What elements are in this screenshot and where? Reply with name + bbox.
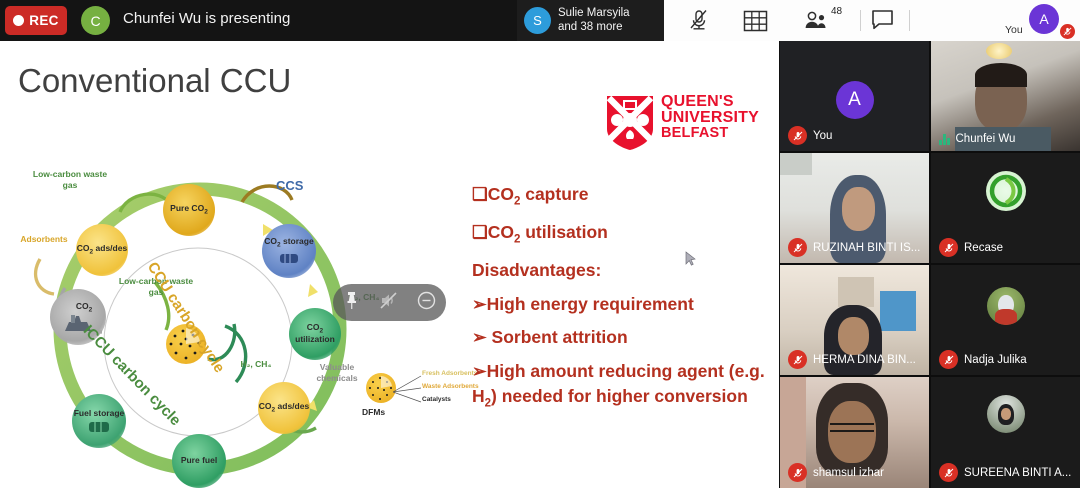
- dfm-item-waste-adsorbents: Waste Adsorbents: [422, 383, 479, 390]
- nametag: You: [788, 126, 832, 145]
- node-pure-co2: Pure CO2: [163, 184, 215, 236]
- dfm-legend-particle-icon: [366, 373, 396, 403]
- slide-canvas: Conventional CCU QUEEN'S UNIVERSITY BELF…: [4, 44, 775, 485]
- node-co2-storage: CO2 storage: [262, 224, 316, 278]
- nametag: Chunfei Wu: [939, 132, 1015, 145]
- mic-muted-icon: [788, 350, 807, 369]
- recase-logo-icon: [986, 171, 1026, 211]
- participant-tile-chunfei-wu[interactable]: Chunfei Wu: [931, 41, 1080, 151]
- label-ccs: CCS: [276, 178, 303, 193]
- speaker-more-count: and 38 more: [558, 21, 630, 35]
- mic-muted-icon: [939, 463, 958, 482]
- bullet-h2-conversion-continuation: H2) needed for higher conversion: [472, 386, 772, 411]
- avatar: [987, 287, 1025, 325]
- participants-count-badge: 48: [831, 6, 842, 17]
- participant-name: Chunfei Wu: [956, 133, 1016, 145]
- nametag: RUZINAH BINTI IS...: [788, 238, 920, 257]
- speaking-indicator-icon: [939, 132, 950, 145]
- chat-icon[interactable]: [871, 9, 894, 30]
- participant-tile-recase[interactable]: Recase: [931, 153, 1080, 263]
- participant-name: You: [813, 130, 832, 142]
- storage-tank-icon: [278, 251, 300, 265]
- dfm-legend: Fresh Adsorbents Waste Adsorbents Cataly…: [360, 369, 472, 435]
- dfm-leader-lines: [393, 374, 423, 414]
- presenter-avatar: C: [81, 6, 110, 35]
- avatar: A: [836, 81, 874, 119]
- avatar: [987, 395, 1025, 433]
- meeting-top-bar: REC C Chunfei Wu is presenting S Sulie M…: [0, 0, 1080, 41]
- speaker-name: Sulie Marsyila: [558, 7, 630, 21]
- qub-crest-icon: [604, 94, 656, 152]
- bullet-co2-utilisation: ❑CO2 utilisation: [472, 222, 772, 247]
- participant-name: HERMA DINA BIN...: [813, 354, 916, 366]
- slide-bullet-list: ❑CO2 capture ❑CO2 utilisation Disadvanta…: [472, 184, 772, 424]
- floating-video-controls[interactable]: [333, 284, 446, 321]
- qub-line-2: UNIVERSITY: [661, 110, 759, 126]
- participant-name: shamsul izhar: [813, 467, 884, 479]
- qub-logo: QUEEN'S UNIVERSITY BELFAST: [604, 94, 779, 152]
- mute-video-icon[interactable]: [379, 291, 398, 315]
- nametag: shamsul izhar: [788, 463, 884, 482]
- participant-name: SUREENA BINTI A...: [964, 467, 1071, 479]
- you-label: You: [1005, 24, 1023, 36]
- dfm-item-fresh-adsorbents: Fresh Adsorbents: [422, 370, 477, 377]
- grid-view-icon[interactable]: [743, 9, 768, 34]
- shared-screen-slide[interactable]: Conventional CCU QUEEN'S UNIVERSITY BELF…: [0, 41, 779, 488]
- label-adsorbents: Adsorbents: [12, 234, 76, 245]
- tray-divider: [860, 10, 861, 31]
- label-low-carbon-waste-gas-top: Low-carbon waste gas: [32, 169, 108, 190]
- dfm-item-catalysts: Catalysts: [422, 396, 451, 403]
- mic-muted-icon: [788, 463, 807, 482]
- participant-tile-nadja-julika[interactable]: Nadja Julika: [931, 265, 1080, 375]
- label-h2-ch4-right: H₂, CH₄: [232, 359, 280, 370]
- self-avatar[interactable]: A: [1029, 4, 1059, 34]
- mouse-cursor: [685, 251, 697, 267]
- bullet-co2-capture: ❑CO2 capture: [472, 184, 772, 209]
- participants-icon[interactable]: [804, 9, 832, 31]
- participant-grid: A You Chunfei Wu: [780, 41, 1080, 488]
- presenting-status: Chunfei Wu is presenting: [123, 10, 290, 27]
- bullet-sorbent-attrition: ➢ Sorbent attrition: [472, 327, 772, 348]
- fuel-tank-icon: [87, 419, 111, 433]
- bullet-disadvantages-heading: Disadvantages:: [472, 260, 772, 281]
- node-fuel-storage: Fuel storage: [72, 394, 126, 448]
- participant-name: RUZINAH BINTI IS...: [813, 242, 920, 254]
- node-pure-fuel: Pure fuel: [172, 434, 226, 488]
- tray-divider-2: [909, 10, 910, 31]
- participant-name: Nadja Julika: [964, 354, 1027, 366]
- participant-tile-you[interactable]: A You: [780, 41, 929, 151]
- mic-muted-icon: [939, 350, 958, 369]
- mic-muted-icon: [939, 238, 958, 257]
- participant-name: Recase: [964, 242, 1003, 254]
- node-co2-utilization: CO2utilization: [289, 308, 341, 360]
- participant-tile-shamsul-izhar[interactable]: shamsul izhar: [780, 377, 929, 488]
- speaker-names: Sulie Marsyila and 38 more: [558, 7, 630, 34]
- bullet-high-energy-requirement: ➢High energy requirement: [472, 294, 772, 315]
- qub-line-1: QUEEN'S: [661, 94, 759, 110]
- minimize-icon[interactable]: [417, 291, 436, 315]
- self-mic-muted-icon[interactable]: [1060, 24, 1075, 39]
- ccu-cycle-diagram: Pure CO2 CO2 ads/des CO2 storage CO2util…: [10, 164, 470, 488]
- label-valuable-chemicals: Valuable chemicals: [306, 362, 368, 383]
- participant-tile-herma-dina[interactable]: HERMA DINA BIN...: [780, 265, 929, 375]
- participant-tile-sureena[interactable]: SUREENA BINTI A...: [931, 377, 1080, 488]
- pin-icon[interactable]: [343, 291, 360, 315]
- record-dot-icon: [13, 15, 24, 26]
- recording-indicator[interactable]: REC: [5, 6, 67, 35]
- qub-wordmark: QUEEN'S UNIVERSITY BELFAST: [661, 94, 759, 141]
- participant-tile-ruzinah[interactable]: RUZINAH BINTI IS...: [780, 153, 929, 263]
- nametag: HERMA DINA BIN...: [788, 350, 916, 369]
- nametag: Nadja Julika: [939, 350, 1027, 369]
- slide-title: Conventional CCU: [18, 62, 291, 100]
- mic-muted-icon[interactable]: [688, 9, 710, 32]
- recording-label: REC: [29, 13, 58, 28]
- dfm-caption: DFMs: [362, 407, 385, 417]
- active-speaker-chip[interactable]: S Sulie Marsyila and 38 more: [517, 0, 664, 41]
- bullet-high-amount-reducing-agent: ➢High amount reducing agent (e.g.: [472, 361, 772, 382]
- speaker-avatar: S: [524, 7, 551, 34]
- mic-muted-icon: [788, 238, 807, 257]
- nametag: SUREENA BINTI A...: [939, 463, 1071, 482]
- nametag: Recase: [939, 238, 1003, 257]
- node-co2-ads-des-bottom: CO2 ads/des: [258, 382, 310, 434]
- qub-line-3: BELFAST: [661, 126, 759, 141]
- mic-muted-icon: [788, 126, 807, 145]
- node-co2-ads-des-top: CO2 ads/des: [76, 224, 128, 276]
